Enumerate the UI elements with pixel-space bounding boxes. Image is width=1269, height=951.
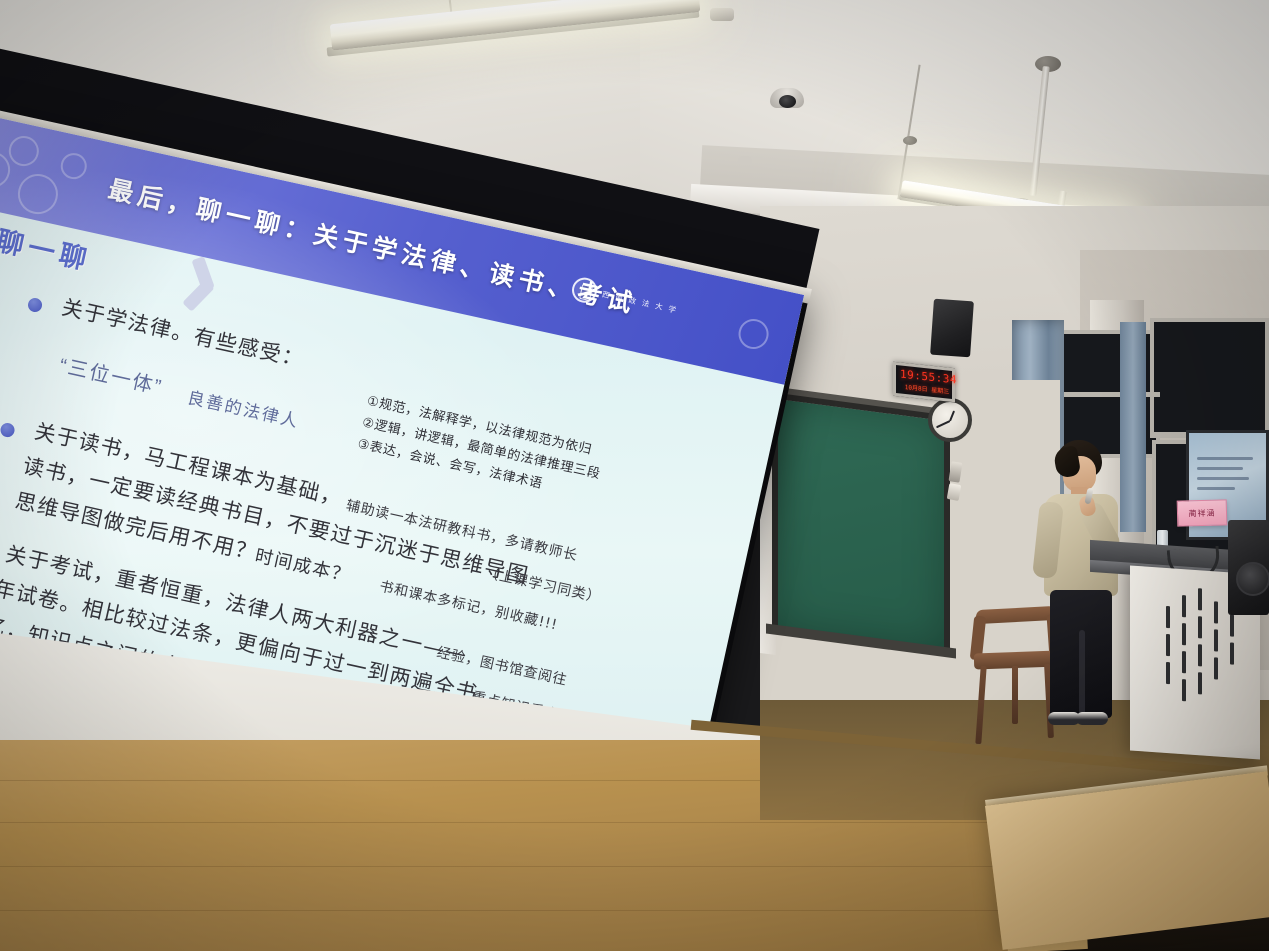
green-chalkboard xyxy=(772,392,950,655)
chair-leg xyxy=(1012,666,1018,724)
person-shoe-right xyxy=(1076,712,1108,725)
classroom-photo-scene: 19:55:34 10月8日 星期三 最后，聊一聊：关于学法律、读书、考试 西 … xyxy=(0,0,1269,951)
wire-anchor xyxy=(903,136,917,145)
camera-lens xyxy=(779,95,796,108)
presenter-person xyxy=(1030,440,1140,740)
speaker-cone xyxy=(1236,562,1269,596)
decor-swirl xyxy=(14,170,62,218)
floor-speaker xyxy=(1228,520,1269,615)
analog-wall-clock xyxy=(928,398,972,442)
bullet-dot xyxy=(27,297,44,314)
bullet-1-quote-right: 良善的法律人 xyxy=(185,383,302,432)
clock-minute-hand xyxy=(936,420,950,428)
ceiling-fitting xyxy=(738,156,752,165)
dome-security-camera-icon xyxy=(770,88,804,108)
wall-speaker xyxy=(930,299,974,358)
university-watermark-icon xyxy=(736,316,772,352)
clock-hour-hand xyxy=(949,410,955,421)
smoke-detector-icon xyxy=(710,8,734,21)
bullet-dot xyxy=(0,422,16,439)
person-leg-split xyxy=(1079,630,1085,718)
decor-swirl xyxy=(6,133,42,169)
bullet-1-quote-left: “三位一体” xyxy=(57,349,166,400)
led-clock-display: 19:55:34 10月8日 星期三 xyxy=(893,362,955,403)
window-upper-right xyxy=(1150,318,1269,436)
chevron-right-icon xyxy=(185,256,234,317)
podium-name-card: 蔺祥涵 xyxy=(1177,499,1228,526)
decor-swirl xyxy=(58,151,89,182)
chair-leg xyxy=(975,666,986,744)
university-seal-icon xyxy=(569,275,599,305)
